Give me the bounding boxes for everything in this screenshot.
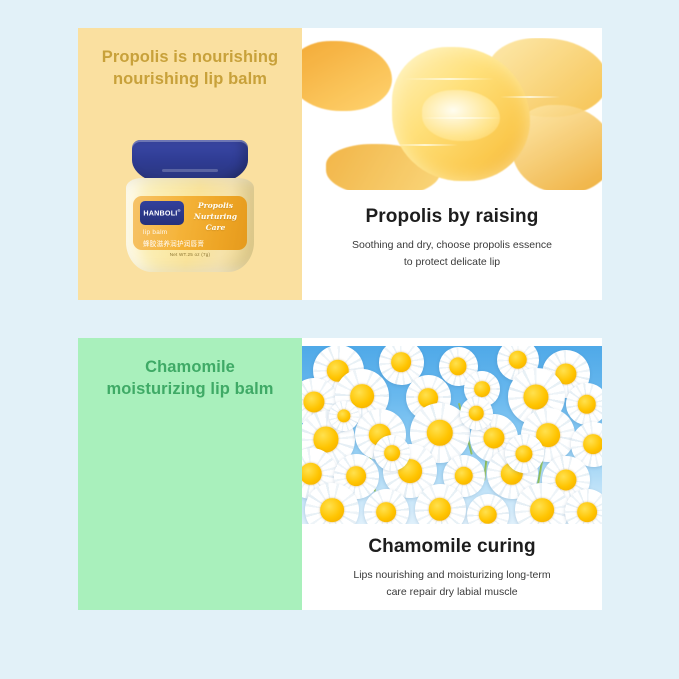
honeycomb-photo	[302, 38, 602, 190]
propolis-jar: HANBOLI® Propolis Nurturing Care lip bal…	[124, 140, 256, 272]
jar-label-band: HANBOLI® Propolis Nurturing Care lip bal…	[133, 196, 247, 250]
brand-badge: HANBOLI®	[140, 201, 184, 225]
propolis-panel-title: Propolis is nourishing nourishing lip ba…	[78, 46, 302, 91]
propolis-right-panel: Propolis by raising Soothing and dry, ch…	[302, 28, 602, 300]
propolis-panel-title-line1: Propolis is nourishing	[86, 46, 294, 68]
chamomile-panel-title-line2: moisturizing lip balm	[86, 378, 294, 400]
chamomile-left-panel: Chamomile moisturizing lip balm HANBOLI®…	[78, 338, 302, 610]
chamomile-flower	[505, 434, 544, 473]
chamomile-caption: Chamomile curing Lips nourishing and moi…	[302, 536, 602, 602]
chamomile-panel-title: Chamomile moisturizing lip balm	[78, 356, 302, 401]
brand-name: HANBOLI®	[143, 208, 180, 217]
chamomile-flower	[566, 383, 602, 425]
jar-script-line2: Nurturing Care	[188, 211, 243, 233]
propolis-caption-line1: Soothing and dry, choose propolis essenc…	[328, 237, 576, 254]
jar-chinese-text: 蜂胶滋养润护润唇膏	[143, 238, 241, 248]
chamomile-flower	[415, 484, 466, 524]
propolis-panel-title-line2: nourishing lip balm	[86, 68, 294, 90]
chamomile-flower	[460, 397, 493, 430]
chamomile-flowers-photo	[302, 346, 602, 524]
chamomile-flower	[374, 435, 410, 471]
chamomile-right-panel: Chamomile curing Lips nourishing and moi…	[302, 338, 602, 610]
propolis-caption: Propolis by raising Soothing and dry, ch…	[302, 206, 602, 272]
chamomile-panel-title-line1: Chamomile	[86, 356, 294, 378]
jar-net-weight: Net WT.25 oz (7g)	[124, 252, 256, 257]
chamomile-flower	[467, 494, 509, 524]
chamomile-flower	[329, 401, 359, 431]
product-infographic: Propolis is nourishing nourishing lip ba…	[0, 0, 679, 679]
chamomile-caption-line2: care repair dry labial muscle	[328, 584, 576, 601]
propolis-caption-title: Propolis by raising	[302, 206, 602, 228]
propolis-left-panel: Propolis is nourishing nourishing lip ba…	[78, 28, 302, 300]
propolis-caption-subtitle: Soothing and dry, choose propolis essenc…	[302, 237, 602, 272]
jar-type-label: lip balm	[143, 229, 167, 236]
product-card-chamomile: Chamomile moisturizing lip balm HANBOLI®…	[78, 338, 602, 610]
chamomile-flower	[364, 489, 409, 524]
product-card-propolis: Propolis is nourishing nourishing lip ba…	[78, 28, 602, 300]
propolis-caption-line2: to protect delicate lip	[328, 254, 576, 271]
chamomile-caption-subtitle: Lips nourishing and moisturizing long-te…	[302, 567, 602, 602]
jar-script-text: Propolis Nurturing Care	[188, 200, 243, 233]
chamomile-caption-title: Chamomile curing	[302, 536, 602, 558]
chamomile-caption-line1: Lips nourishing and moisturizing long-te…	[328, 567, 576, 584]
jar-script-line1: Propolis	[188, 200, 243, 211]
